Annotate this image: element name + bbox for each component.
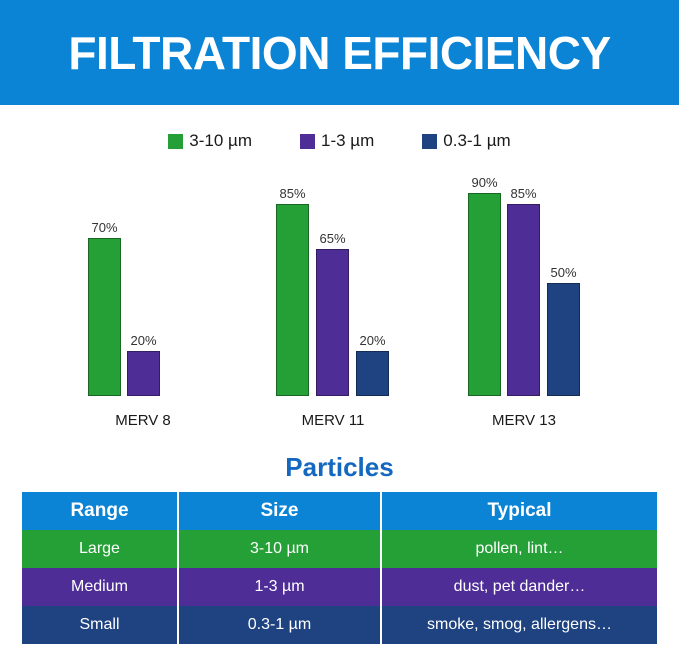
particles-section-title: Particles	[0, 452, 679, 483]
bar-value-label: 20%	[359, 333, 385, 348]
table-row: Medium 1-3 µm dust, pet dander…	[22, 568, 657, 606]
x-tick-merv-13: MERV 13	[449, 396, 599, 435]
bar-group-merv-11: 85% 65% 20%	[276, 170, 389, 396]
column-header-typical: Typical	[381, 492, 657, 530]
bar-value-label: 50%	[550, 265, 576, 280]
x-tick-merv-8: MERV 8	[68, 396, 218, 435]
particles-table: Range Size Typical Large 3-10 µm pollen,…	[22, 492, 657, 644]
x-tick-label: MERV 13	[449, 412, 599, 429]
bar-wrap-1-3um: 20%	[127, 170, 160, 396]
column-header-size: Size	[178, 492, 381, 530]
bar-group-merv-13: 90% 85% 50%	[468, 170, 580, 396]
bar-value-label: 85%	[510, 186, 536, 201]
table-header: Range Size Typical	[22, 492, 657, 530]
cell-size: 3-10 µm	[178, 530, 381, 568]
cell-size: 1-3 µm	[178, 568, 381, 606]
bar-wrap-1-3um: 85%	[507, 170, 540, 396]
cell-typical: dust, pet dander…	[381, 568, 657, 606]
cell-range: Large	[22, 530, 178, 568]
bar-value-label: 90%	[471, 175, 497, 190]
table-row: Small 0.3-1 µm smoke, smog, allergens…	[22, 606, 657, 644]
bar-wrap-3-10um: 90%	[468, 170, 501, 396]
bar-value-label: 85%	[279, 186, 305, 201]
legend-item-3-10um: 3-10 µm	[168, 131, 252, 151]
bar-wrap-1-3um: 65%	[316, 170, 349, 396]
table-header-row: Range Size Typical	[22, 492, 657, 530]
x-tick-label: MERV 11	[258, 412, 408, 429]
legend-item-03-1um: 0.3-1 µm	[422, 131, 510, 151]
column-header-range: Range	[22, 492, 178, 530]
legend-swatch-icon	[300, 134, 315, 149]
legend-swatch-icon	[422, 134, 437, 149]
bar-3-10um	[276, 204, 309, 396]
bar-03-1um	[356, 351, 389, 396]
bar-chart: 70% 20% MERV 8 85% 65% 20% MERV 11 90%	[0, 170, 679, 435]
table-row: Large 3-10 µm pollen, lint…	[22, 530, 657, 568]
bar-3-10um	[468, 193, 501, 396]
x-tick-merv-11: MERV 11	[258, 396, 408, 435]
bar-3-10um	[88, 238, 121, 396]
bar-value-label: 65%	[319, 231, 345, 246]
bar-wrap-03-1um: 50%	[547, 170, 580, 396]
bar-1-3um	[316, 249, 349, 396]
legend-item-1-3um: 1-3 µm	[300, 131, 374, 151]
legend-item-label: 1-3 µm	[321, 131, 374, 151]
bar-group-merv-8: 70% 20%	[88, 170, 198, 396]
bar-value-label: 70%	[91, 220, 117, 235]
cell-range: Medium	[22, 568, 178, 606]
legend-item-label: 3-10 µm	[189, 131, 252, 151]
bar-value-label: 20%	[130, 333, 156, 348]
legend-item-label: 0.3-1 µm	[443, 131, 510, 151]
bar-03-1um	[547, 283, 580, 396]
bar-wrap-03-1um: 20%	[356, 170, 389, 396]
bar-wrap-3-10um: 85%	[276, 170, 309, 396]
chart-legend: 3-10 µm 1-3 µm 0.3-1 µm	[0, 131, 679, 151]
header-banner: FILTRATION EFFICIENCY	[0, 0, 679, 105]
cell-size: 0.3-1 µm	[178, 606, 381, 644]
bar-1-3um	[507, 204, 540, 396]
table-body: Large 3-10 µm pollen, lint… Medium 1-3 µ…	[22, 530, 657, 644]
bar-wrap-3-10um: 70%	[88, 170, 121, 396]
page-title: FILTRATION EFFICIENCY	[68, 30, 610, 76]
legend-swatch-icon	[168, 134, 183, 149]
x-tick-label: MERV 8	[68, 412, 218, 429]
cell-typical: pollen, lint…	[381, 530, 657, 568]
cell-range: Small	[22, 606, 178, 644]
cell-typical: smoke, smog, allergens…	[381, 606, 657, 644]
bar-1-3um	[127, 351, 160, 396]
